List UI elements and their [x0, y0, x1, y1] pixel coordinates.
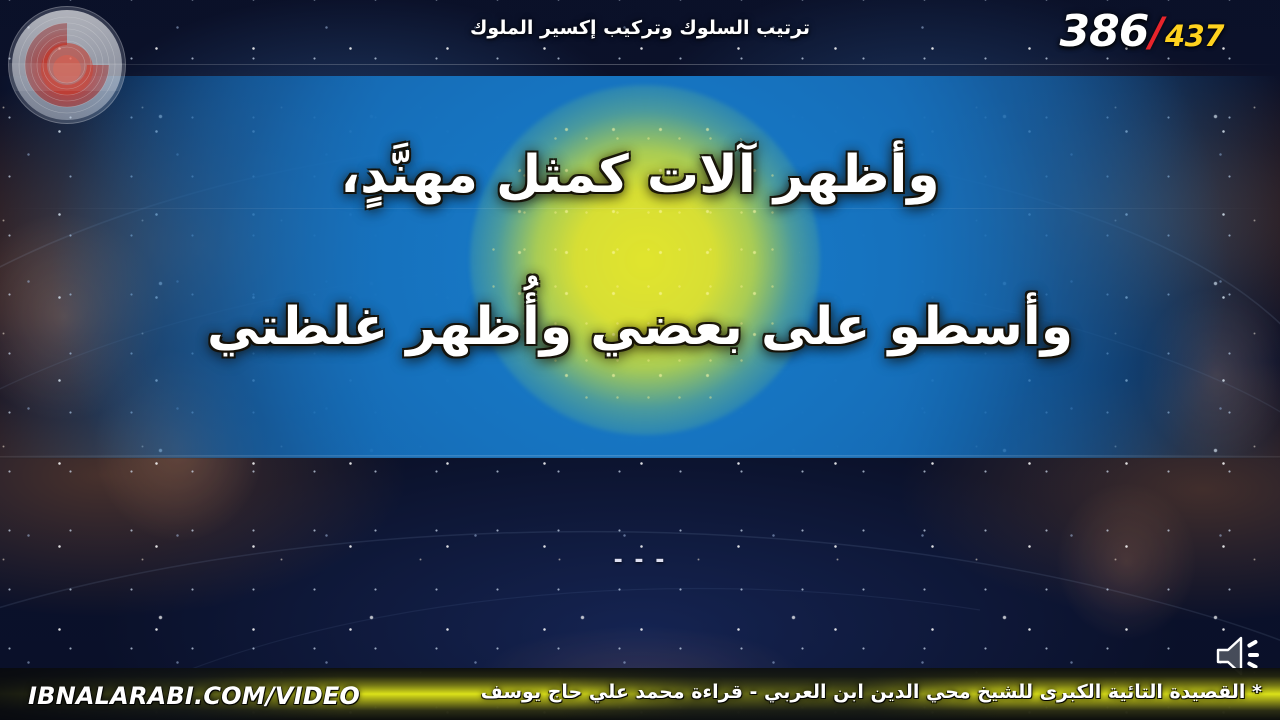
verse-line-2: وأسطو على بعضي وأُظهر غلظتي [0, 300, 1280, 355]
footer-bar: IBNALARABI.COM/VIDEO * القصيدة التائية ا… [0, 668, 1280, 720]
divider-middle [0, 208, 1280, 209]
dashes-placeholder: - - - [0, 548, 1280, 573]
counter-separator: / [1149, 13, 1164, 53]
page-title: ترتيب السلوك وتركيب إكسير الملوك [280, 17, 1000, 39]
logo-spiral-icon [9, 7, 125, 123]
verse-counter: 386 / 437 [1059, 10, 1224, 54]
verse-line-1: وأظهر آلات كمثل مهنَّدٍ، [0, 148, 1280, 203]
footer-caption: * القصيدة التائية الكبرى للشيخ محي الدين… [481, 681, 1262, 703]
ibnalarabi-logo[interactable] [8, 6, 126, 124]
site-url-label[interactable]: IBNALARABI.COM/VIDEO [28, 682, 360, 710]
counter-total: 437 [1165, 22, 1224, 51]
video-frame: ترتيب السلوك وتركيب إكسير الملوك 386 / 4… [0, 0, 1280, 720]
divider-top [0, 64, 1280, 65]
stage-panel-bottom-edge [0, 456, 1280, 459]
counter-current: 386 [1059, 10, 1148, 54]
